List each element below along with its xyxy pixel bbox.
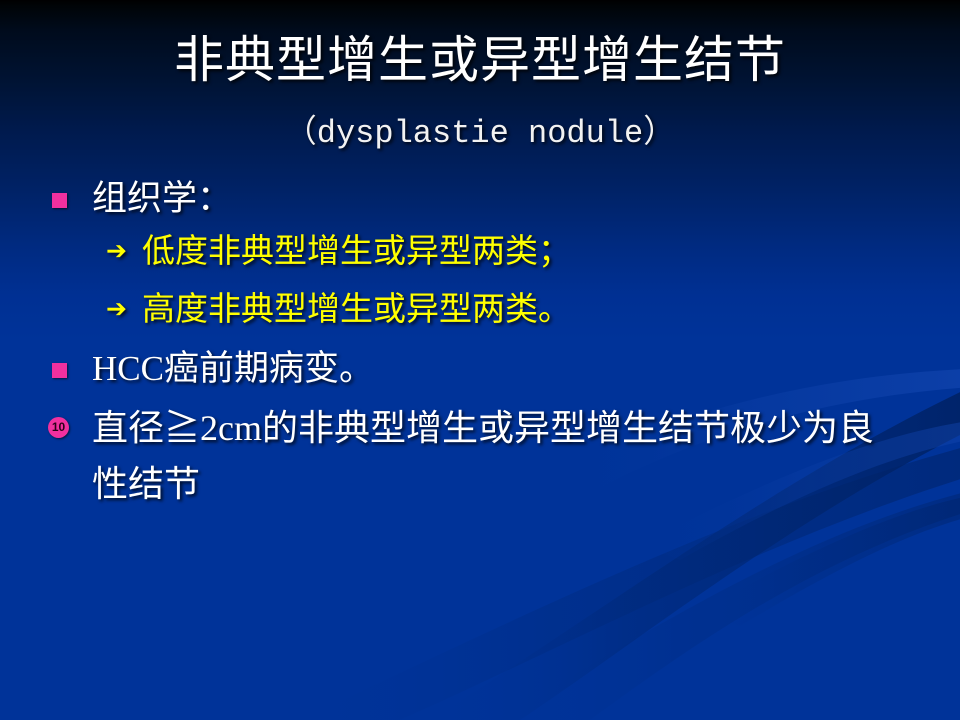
bullet-text: HCC癌前期病变。: [92, 346, 374, 392]
slide-subtitle: （dysplastie nodule）: [0, 106, 960, 152]
circled-ten-bullet-icon: 10: [48, 400, 92, 452]
square-bullet-icon: [52, 346, 92, 392]
bullet-item-hcc-precancerous: HCC癌前期病变。: [0, 346, 960, 392]
bullet-item-low-grade: ➔ 低度非典型增生或异型两类；: [0, 230, 960, 274]
bullet-item-histology: 组织学：: [0, 176, 960, 222]
slide-body: 组织学： ➔ 低度非典型增生或异型两类； ➔ 高度非典型增生或异型两类。 HCC…: [0, 176, 960, 518]
bullet-text: 直径≧2cm的非典型增生或异型增生结节极少为良性结节: [92, 400, 882, 512]
arrow-bullet-icon: ➔: [106, 288, 142, 332]
bullet-text: 高度非典型增生或异型两类。: [142, 288, 571, 332]
bullet-item-high-grade: ➔ 高度非典型增生或异型两类。: [0, 288, 960, 332]
bullet-text: 低度非典型增生或异型两类；: [142, 230, 571, 274]
slide-title: 非典型增生或异型增生结节: [0, 34, 960, 87]
arrow-bullet-icon: ➔: [106, 230, 142, 274]
square-bullet-icon: [52, 176, 92, 222]
presentation-slide: 非典型增生或异型增生结节 （dysplastie nodule） 组织学： ➔ …: [0, 0, 960, 720]
circled-ten-number: 10: [48, 417, 69, 438]
bullet-text: 组织学：: [92, 176, 232, 222]
bullet-item-diameter-rule: 10 直径≧2cm的非典型增生或异型增生结节极少为良性结节: [0, 400, 960, 512]
